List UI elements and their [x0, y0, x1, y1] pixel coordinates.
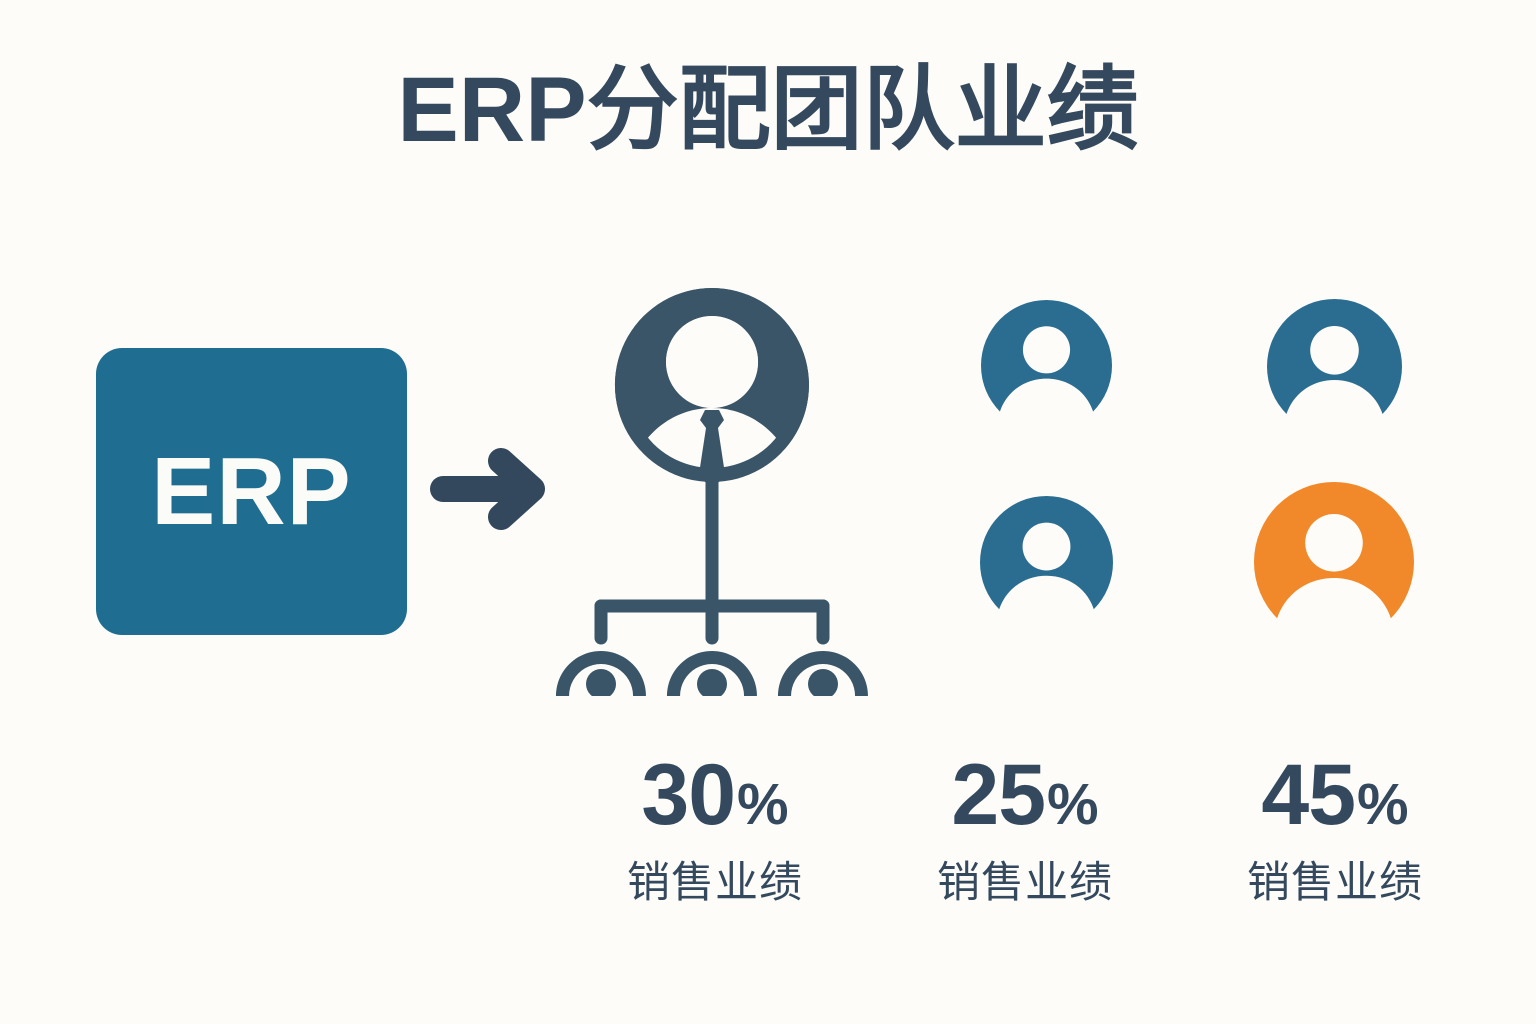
- stat-number-2: 25: [951, 747, 1045, 843]
- arrow-right-icon: [428, 443, 556, 535]
- page-title: ERP分配团队业绩: [0, 62, 1536, 159]
- stat-value-3: 45%: [1180, 752, 1490, 838]
- stat-value-1: 30%: [560, 752, 870, 838]
- erp-box-label: ERP: [151, 444, 351, 540]
- stat-value-2: 25%: [870, 752, 1180, 838]
- stat-number-1: 30: [641, 747, 735, 843]
- stat-percent-sign-2: %: [1047, 772, 1099, 837]
- stat-caption-1: 销售业绩: [560, 860, 870, 907]
- person-avatar-icon-1[interactable]: [981, 300, 1112, 431]
- infographic-canvas: ERP分配团队业绩 ERP: [0, 0, 1536, 1024]
- stat-item-2: 25% 销售业绩: [870, 752, 1180, 907]
- stat-percent-sign-3: %: [1357, 772, 1409, 837]
- person-avatar-icon-3[interactable]: [980, 496, 1113, 629]
- subordinate-avatars: [556, 651, 868, 696]
- person-avatar-icon-highlighted[interactable]: [1254, 482, 1414, 642]
- erp-system-box[interactable]: ERP: [96, 348, 407, 635]
- stat-caption-2: 销售业绩: [870, 860, 1180, 907]
- stat-percent-sign-1: %: [737, 772, 789, 837]
- stat-number-3: 45: [1261, 747, 1355, 843]
- stat-caption-3: 销售业绩: [1180, 860, 1490, 907]
- stat-item-1: 30% 销售业绩: [560, 752, 870, 907]
- person-avatar-icon-2[interactable]: [1267, 299, 1402, 434]
- stats-row: 30% 销售业绩 25% 销售业绩 45% 销售业绩: [560, 752, 1490, 937]
- org-chart-icon: [540, 276, 885, 696]
- stat-item-3: 45% 销售业绩: [1180, 752, 1490, 907]
